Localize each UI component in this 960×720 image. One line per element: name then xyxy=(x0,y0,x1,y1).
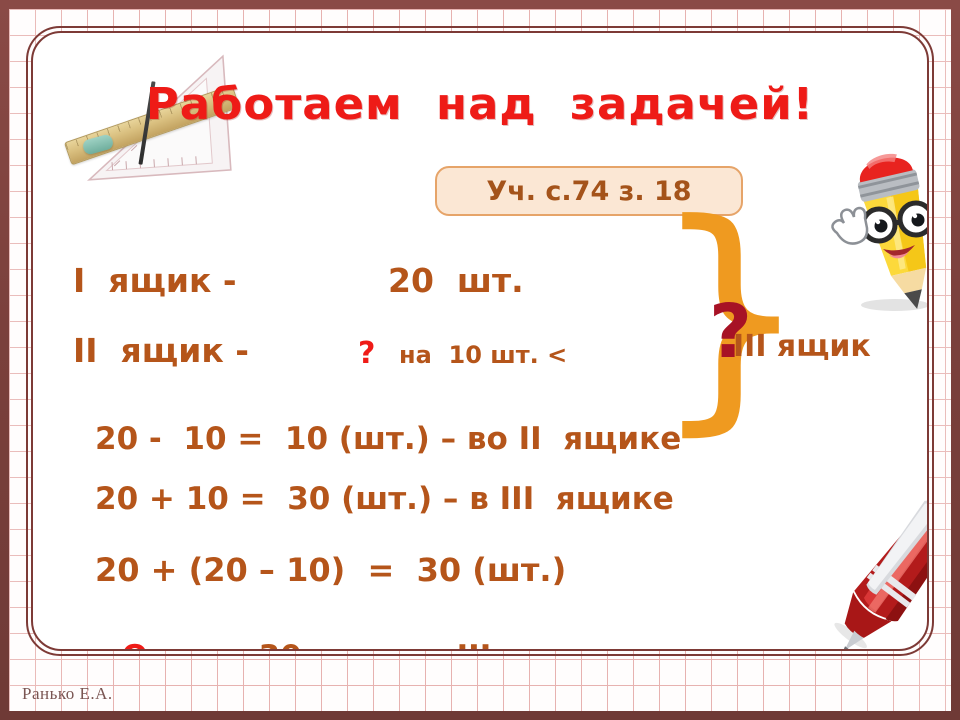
red-pen-icon xyxy=(803,481,929,651)
condition-line2-label: II ящик - xyxy=(73,331,249,370)
answer-row: Ответ: 30 штук в III ящике. xyxy=(95,621,643,651)
condition-line1-label: I ящик - xyxy=(73,261,237,300)
condition-line2-question-mark: ? xyxy=(358,336,375,371)
content-card: Работаем над задачей! Уч. с.74 з. 18 xyxy=(31,31,929,651)
slide-root: Работаем над задачей! Уч. с.74 з. 18 xyxy=(0,0,960,720)
author-signature: Ранько Е.А. xyxy=(22,684,113,704)
solution-line-1: 20 - 10 = 10 (шт.) – во II ящике xyxy=(95,421,681,457)
condition-line1-value: 20 шт. xyxy=(388,261,524,300)
pencil-mascot-icon xyxy=(823,141,929,316)
solution-line-2: 20 + 10 = 30 (шт.) – в III ящике xyxy=(95,481,674,517)
answer-label: Ответ: xyxy=(122,639,237,651)
third-box-label: III ящик xyxy=(733,329,871,364)
solution-line-3: 20 + (20 – 10) = 30 (шт.) xyxy=(95,551,566,589)
page-title: Работаем над задачей! xyxy=(31,79,929,130)
condition-line2-relation: на 10 шт. < xyxy=(399,341,567,369)
answer-text: 30 штук в III ящике. xyxy=(237,639,643,651)
